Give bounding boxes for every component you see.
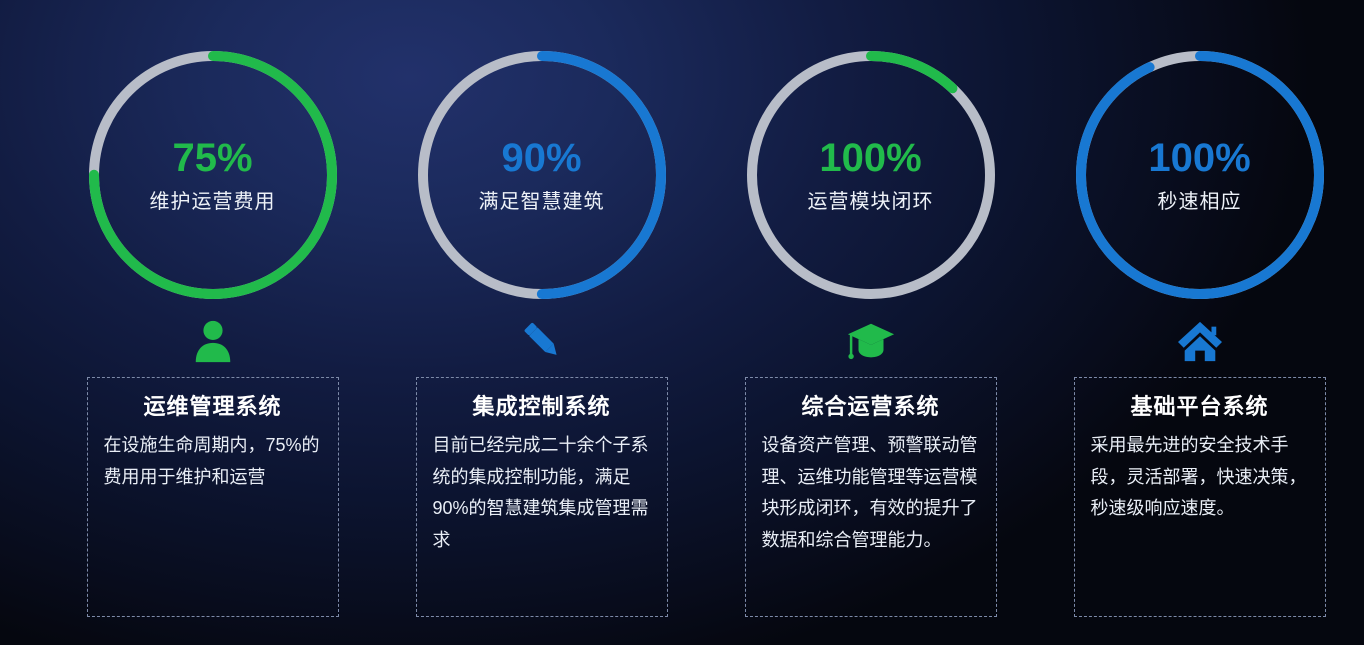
pencil-icon xyxy=(520,319,564,363)
icon-wrap-3 xyxy=(846,311,896,371)
donut-label-4: 秒速相应 xyxy=(1158,192,1242,212)
donut-center-1: 75% 维护运营费用 xyxy=(83,45,343,305)
person-icon xyxy=(190,318,236,364)
donut-label-2: 满足智慧建筑 xyxy=(479,192,605,212)
donut-label-3: 运营模块闭环 xyxy=(808,192,934,212)
donut-percent-3: 100% xyxy=(819,138,921,178)
card-title-2: 集成控制系统 xyxy=(472,394,610,420)
card-title-3: 综合运营系统 xyxy=(801,394,939,420)
icon-wrap-4 xyxy=(1177,311,1223,371)
donut-percent-1: 75% xyxy=(172,138,252,178)
home-icon xyxy=(1177,319,1223,363)
info-card-3: 综合运营系统 设备资产管理、预警联动管理、运维功能管理等运营模块形成闭环，有效的… xyxy=(745,377,997,617)
info-card-4: 基础平台系统 采用最先进的安全技术手段，灵活部署，快速决策，秒速级响应速度。 xyxy=(1074,377,1326,617)
donut-center-2: 90% 满足智慧建筑 xyxy=(412,45,672,305)
graduation-cap-icon xyxy=(846,319,896,363)
card-body-1: 在设施生命周期内，75%的费用用于维护和运营 xyxy=(100,430,326,493)
info-card-1: 运维管理系统 在设施生命周期内，75%的费用用于维护和运营 xyxy=(87,377,339,617)
donut-chart-2: 90% 满足智慧建筑 xyxy=(412,45,672,305)
donut-chart-1: 75% 维护运营费用 xyxy=(83,45,343,305)
metric-column-1: 75% 维护运营费用 运维管理系统 在设施生命周期内，75%的费用用于维护和运营 xyxy=(48,0,377,645)
donut-center-3: 100% 运营模块闭环 xyxy=(741,45,1001,305)
icon-wrap-2 xyxy=(520,311,564,371)
infographic-stage: 75% 维护运营费用 运维管理系统 在设施生命周期内，75%的费用用于维护和运营 xyxy=(0,0,1364,645)
donut-center-4: 100% 秒速相应 xyxy=(1070,45,1330,305)
card-title-4: 基础平台系统 xyxy=(1130,394,1268,420)
metric-column-3: 100% 运营模块闭环 综合运营系统 设备资产管理、预警联动管理、运维功能管理等… xyxy=(706,0,1035,645)
card-body-2: 目前已经完成二十余个子系统的集成控制功能，满足90%的智慧建筑集成管理需求 xyxy=(429,430,655,556)
card-body-3: 设备资产管理、预警联动管理、运维功能管理等运营模块形成闭环，有效的提升了数据和综… xyxy=(758,430,984,556)
metric-column-4: 100% 秒速相应 基础平台系统 采用最先进的安全技术手段，灵活部署，快速决策，… xyxy=(1035,0,1364,645)
donut-label-1: 维护运营费用 xyxy=(150,192,276,212)
donut-chart-3: 100% 运营模块闭环 xyxy=(741,45,1001,305)
donut-chart-4: 100% 秒速相应 xyxy=(1070,45,1330,305)
card-body-4: 采用最先进的安全技术手段，灵活部署，快速决策，秒速级响应速度。 xyxy=(1087,430,1313,525)
card-title-1: 运维管理系统 xyxy=(143,394,281,420)
donut-percent-4: 100% xyxy=(1148,138,1250,178)
info-card-2: 集成控制系统 目前已经完成二十余个子系统的集成控制功能，满足90%的智慧建筑集成… xyxy=(416,377,668,617)
metric-column-2: 90% 满足智慧建筑 集成控制系统 目前已经完成二十余个子系统的集成控制功能，满… xyxy=(377,0,706,645)
donut-percent-2: 90% xyxy=(501,138,581,178)
metric-columns: 75% 维护运营费用 运维管理系统 在设施生命周期内，75%的费用用于维护和运营 xyxy=(0,0,1364,645)
icon-wrap-1 xyxy=(190,311,236,371)
